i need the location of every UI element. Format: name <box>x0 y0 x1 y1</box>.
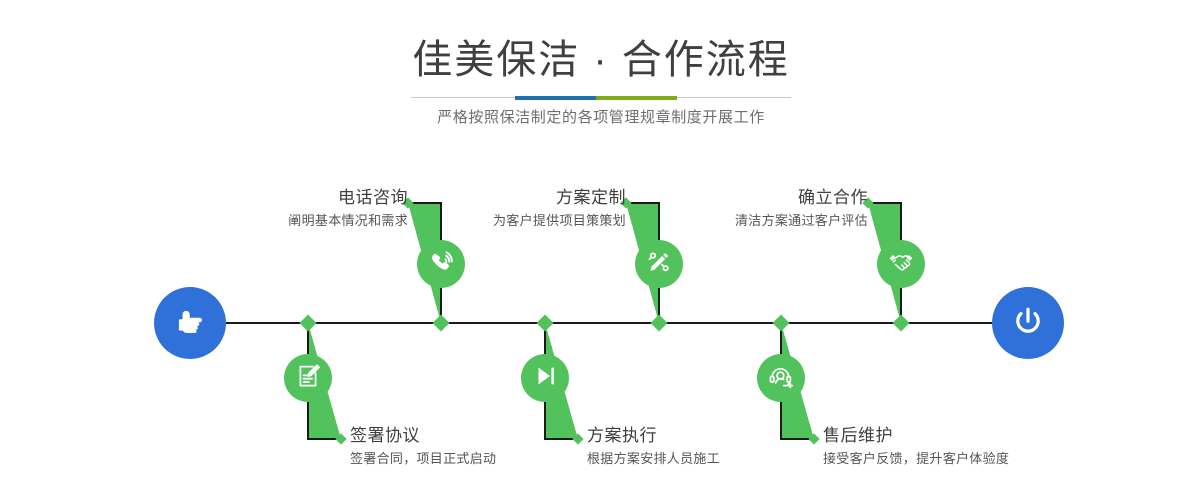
step-icon-2[interactable] <box>284 354 332 402</box>
step-icon-3[interactable] <box>635 240 683 288</box>
axis-diamond <box>537 315 554 332</box>
axis-diamond <box>300 315 317 332</box>
step-desc-4: 根据方案安排人员施工 <box>587 448 847 470</box>
step-icon-5[interactable] <box>877 240 925 288</box>
pointing-hand-icon <box>170 301 210 346</box>
step-label-3: 方案定制 为客户提供项目策策划 <box>406 186 626 232</box>
handshake-icon <box>886 247 916 282</box>
flow-diagram-page: 佳美保洁 · 合作流程 严格按照保洁制定的各项管理规章制度开展工作 <box>0 0 1202 502</box>
step-desc-6: 接受客户反馈，提升客户体验度 <box>823 448 1103 470</box>
document-sign-icon <box>293 361 323 396</box>
step-icon-1[interactable] <box>417 240 465 288</box>
flow-end-node[interactable] <box>992 287 1064 359</box>
step-icon-6[interactable] <box>757 354 805 402</box>
step-label-4: 方案执行 根据方案安排人员施工 <box>587 424 847 470</box>
step-title-6: 售后维护 <box>823 424 1103 448</box>
phone-call-icon <box>426 247 456 282</box>
process-flow: 电话咨询 阐明基本情况和需求 签署协议 签署合同，项目正式启动 <box>0 0 1202 502</box>
step-label-5: 确立合作 清洁方案通过客户评估 <box>648 186 868 232</box>
axis-diamond <box>651 315 668 332</box>
customer-service-icon <box>766 361 796 396</box>
step-desc-5: 清洁方案通过客户评估 <box>648 210 868 232</box>
pencil-design-icon <box>644 247 674 282</box>
axis-diamond <box>893 315 910 332</box>
step-title-4: 方案执行 <box>587 424 847 448</box>
power-button-icon <box>1008 301 1048 346</box>
step-title-5: 确立合作 <box>648 186 868 210</box>
step-title-3: 方案定制 <box>406 186 626 210</box>
step-label-1: 电话咨询 阐明基本情况和需求 <box>188 186 408 232</box>
step-title-2: 签署协议 <box>350 424 610 448</box>
step-desc-2: 签署合同，项目正式启动 <box>350 448 610 470</box>
step-label-6: 售后维护 接受客户反馈，提升客户体验度 <box>823 424 1103 470</box>
step-title-1: 电话咨询 <box>188 186 408 210</box>
play-execute-icon <box>531 362 559 395</box>
step-label-2: 签署协议 签署合同，项目正式启动 <box>350 424 610 470</box>
flow-start-node[interactable] <box>154 287 226 359</box>
step-desc-3: 为客户提供项目策策划 <box>406 210 626 232</box>
axis-diamond <box>433 315 450 332</box>
axis-diamond <box>773 315 790 332</box>
step-desc-1: 阐明基本情况和需求 <box>188 210 408 232</box>
step-icon-4[interactable] <box>521 354 569 402</box>
